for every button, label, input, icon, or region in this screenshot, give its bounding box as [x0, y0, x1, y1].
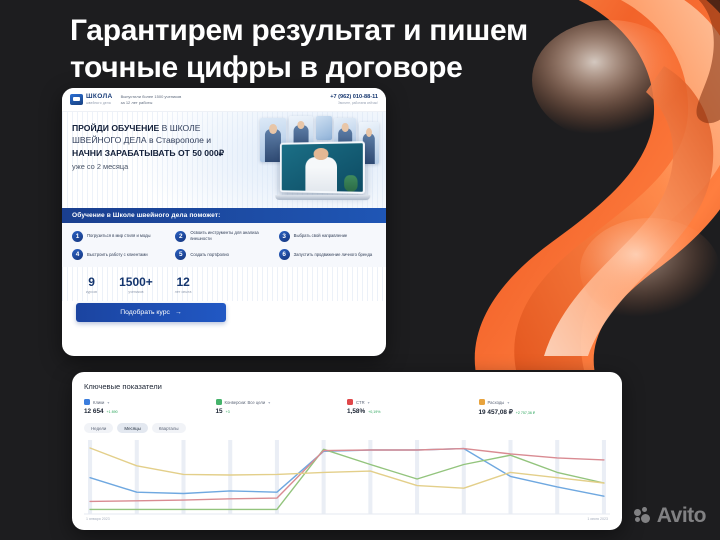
stat-label: учеников: [119, 290, 153, 294]
stat-item: 9 курсов: [86, 276, 97, 294]
kpi-label: CTR: [356, 400, 365, 405]
kpi-delta: +2 757,36 ₽: [516, 411, 535, 415]
tagline-line-2: за 12 лет работы: [121, 100, 182, 106]
benefit-item: 4 Выстроить работу с клиентами: [72, 249, 169, 260]
benefit-text: Запустить продвижение личного бренда: [294, 252, 373, 258]
kpi-delta: +0,19%: [368, 410, 380, 414]
benefit-item: 6 Запустить продвижение личного бренда: [279, 249, 376, 260]
avito-watermark: Avito: [634, 505, 706, 526]
kpi-label: Расходы: [488, 400, 505, 405]
stat-value: 1500+: [119, 276, 153, 288]
kpi-label: Конверсии: Все цели: [225, 400, 266, 405]
benefit-number: 4: [72, 249, 83, 260]
stat-item: 12 лет опыта: [175, 276, 192, 294]
benefit-text: Выстроить работу с клиентами: [87, 252, 148, 258]
dashboard-title: Ключевые показатели: [84, 382, 610, 391]
instructor-photo: [305, 157, 337, 191]
benefit-number: 5: [175, 249, 186, 260]
benefit-text: Создать портфолио: [190, 252, 229, 258]
chevron-down-icon[interactable]: ▾: [368, 400, 370, 405]
axis-label-end: 1 июля 2023: [587, 517, 608, 521]
chevron-down-icon[interactable]: ▾: [507, 400, 509, 405]
kpi-value: 1,58%: [347, 408, 365, 415]
arrow-right-icon: →: [175, 309, 182, 316]
select-course-button[interactable]: Подобрать курс →: [76, 303, 226, 322]
phone-note: Звоните, работаем сейчас!: [330, 101, 378, 105]
benefit-text: Выбрать свой направление: [294, 233, 348, 239]
headline-line-1: Гарантирем результат и пишем: [70, 12, 610, 49]
phone-number[interactable]: +7 (962) 010-88-11: [330, 94, 378, 100]
kpi-label: Клики: [93, 400, 104, 405]
laptop-screen: [280, 141, 365, 194]
legend-color-icon: [84, 399, 90, 405]
axis-label-start: 1 января 2023: [86, 517, 110, 521]
benefit-item: 3 Выбрать свой направление: [279, 230, 376, 242]
chevron-down-icon[interactable]: ▾: [107, 400, 109, 405]
period-tabs[interactable]: Недели Месяцы Кварталы: [84, 423, 610, 433]
tab-months[interactable]: Месяцы: [117, 423, 147, 433]
benefit-item: 1 Погрузиться в мир стиля и моды: [72, 230, 169, 242]
chart-canvas: [84, 438, 610, 522]
cta-wrapper: Подобрать курс →: [62, 301, 386, 332]
kpi-card-spend[interactable]: Расходы ▾ 19 457,08 ₽ +2 757,36 ₽: [479, 399, 611, 416]
hero-heading: ПРОЙДИ ОБУЧЕНИЕ В ШКОЛЕ ШВЕЙНОГО ДЕЛА в …: [72, 122, 247, 159]
benefit-text: Освоить инструменты для анализа внешност…: [190, 230, 272, 242]
benefits-grid: 1 Погрузиться в мир стиля и моды 2 Освои…: [62, 223, 386, 267]
photo-collage: [242, 116, 382, 208]
kpi-row: Клики ▾ 12 654 +1 890 Конверсии: Все цел…: [84, 399, 610, 416]
landing-page-mockup[interactable]: ШКОЛА швейного дела Выпустили более 1500…: [62, 88, 386, 356]
benefit-text: Погрузиться в мир стиля и моды: [87, 233, 151, 239]
laptop-base: [275, 195, 370, 200]
hero-thin-1: В ШКОЛЕ: [159, 123, 200, 133]
landing-hero: ПРОЙДИ ОБУЧЕНИЕ В ШКОЛЕ ШВЕЙНОГО ДЕЛА в …: [62, 112, 386, 208]
kpi-delta: +3: [226, 410, 230, 414]
benefit-number: 2: [175, 231, 186, 242]
avito-logo-icon: [634, 507, 652, 525]
collage-photo: [316, 116, 332, 140]
kpi-value: 15: [216, 408, 223, 415]
avito-wordmark: Avito: [657, 505, 706, 526]
legend-color-icon: [216, 399, 222, 405]
stats-row: 9 курсов 1500+ учеников 12 лет опыта: [62, 267, 386, 301]
logo-mark-icon: [70, 94, 83, 105]
school-logo[interactable]: ШКОЛА швейного дела: [70, 94, 113, 105]
legend-color-icon: [347, 399, 353, 405]
benefit-number: 3: [279, 231, 290, 242]
benefit-item: 2 Освоить инструменты для анализа внешно…: [175, 230, 272, 242]
contact-phone-block[interactable]: +7 (962) 010-88-11 Звоните, работаем сей…: [330, 94, 378, 105]
kpi-value: 12 654: [84, 408, 104, 415]
kpi-delta: +1 890: [107, 410, 118, 414]
logo-subtitle: швейного дела: [86, 102, 113, 105]
line-chart[interactable]: 1 января 2023 1 июля 2023: [84, 438, 610, 522]
tab-weeks[interactable]: Недели: [84, 423, 113, 433]
headline-line-2: точные цифры в договоре: [70, 49, 610, 86]
hero-bold-1: ПРОЙДИ ОБУЧЕНИЕ: [72, 123, 159, 133]
benefit-number: 1: [72, 231, 83, 242]
stat-value: 12: [175, 276, 192, 288]
stat-value: 9: [86, 276, 97, 288]
tagline-line-1: Выпустили более 1500 учеников: [121, 94, 182, 100]
kpi-card-ctr[interactable]: CTR ▾ 1,58% +0,19%: [347, 399, 479, 416]
kpi-card-clicks[interactable]: Клики ▾ 12 654 +1 890: [84, 399, 216, 416]
stat-label: лет опыта: [175, 290, 192, 294]
kpi-card-conversions[interactable]: Конверсии: Все цели ▾ 15 +3: [216, 399, 348, 416]
hero-bold-2: НАЧНИ ЗАРАБАТЫВАТЬ ОТ 50 000₽: [72, 148, 224, 158]
hero-thin-2: ШВЕЙНОГО ДЕЛА в Ставрополе и: [72, 135, 211, 145]
benefit-item: 5 Создать портфолио: [175, 249, 272, 260]
logo-name: ШКОЛА: [86, 94, 113, 101]
benefits-band-title: Обучение в Школе швейного дела поможет:: [62, 208, 386, 223]
cta-label: Подобрать курс: [120, 309, 170, 316]
page-title: Гарантирем результат и пишем точные цифр…: [70, 12, 610, 86]
landing-topbar: ШКОЛА швейного дела Выпустили более 1500…: [62, 88, 386, 112]
landing-tagline: Выпустили более 1500 учеников за 12 лет …: [121, 94, 182, 106]
legend-color-icon: [479, 399, 485, 405]
stat-item: 1500+ учеников: [119, 276, 153, 294]
kpi-value: 19 457,08 ₽: [479, 408, 513, 416]
stat-label: курсов: [86, 290, 97, 294]
laptop-mockup: [278, 142, 364, 200]
benefit-number: 6: [279, 249, 290, 260]
chevron-down-icon[interactable]: ▾: [268, 400, 270, 405]
plant-decor: [344, 175, 358, 192]
analytics-dashboard-mockup[interactable]: Ключевые показатели Клики ▾ 12 654 +1 89…: [72, 372, 622, 530]
tab-quarters[interactable]: Кварталы: [152, 423, 186, 433]
